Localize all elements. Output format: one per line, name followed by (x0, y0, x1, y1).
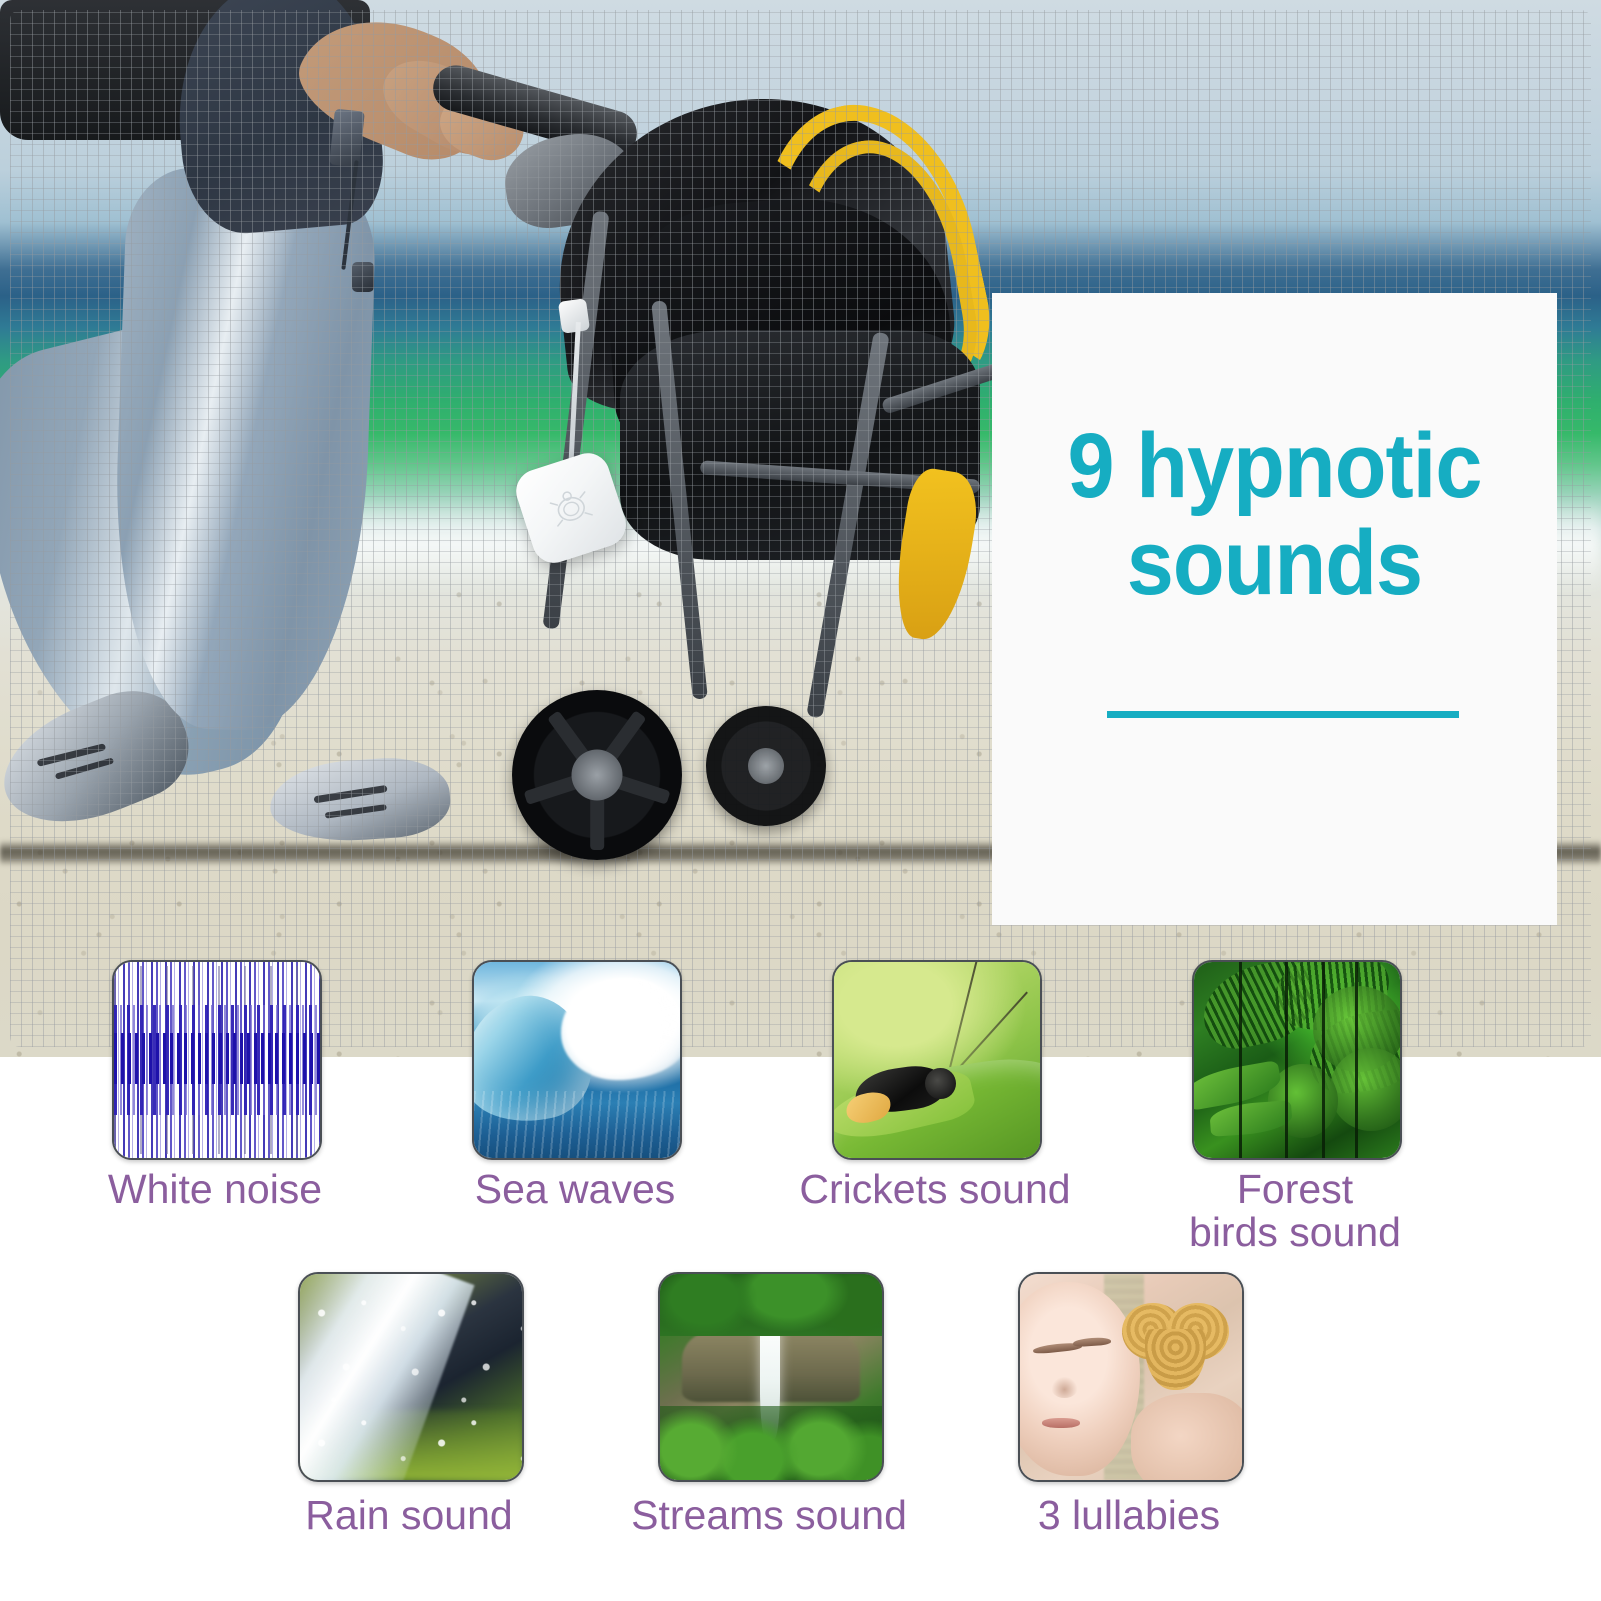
falling-water-icon (300, 1274, 522, 1480)
sound-label-white-noise: White noise (32, 1168, 398, 1211)
sound-label-forest-birds-sound: Forest birds sound (1112, 1168, 1478, 1253)
sound-label-sea-waves: Sea waves (392, 1168, 758, 1211)
sound-thumbnail-white-noise[interactable] (112, 960, 322, 1160)
sleeping-baby-icon (1020, 1274, 1242, 1480)
device-clip (558, 298, 590, 334)
waterfall-icon (660, 1274, 882, 1480)
sound-thumbnail-streams-sound[interactable] (658, 1272, 884, 1482)
sound-label-3-lullabies: 3 lullabies (946, 1494, 1312, 1537)
sound-label-streams-sound: Streams sound (586, 1494, 952, 1537)
waveform-graph-icon (114, 962, 320, 1158)
knitted-heart (1122, 1303, 1229, 1402)
sound-label-rain-sound: Rain sound (226, 1494, 592, 1537)
product-feature-image: 9 hypnotic sounds White noise Sea waves (0, 0, 1601, 1601)
stroller-basket (0, 0, 370, 140)
sound-thumbnail-rain-sound[interactable] (298, 1272, 524, 1482)
headline-line-1: 9 hypnotic (1067, 415, 1481, 517)
stroller-front-wheel (512, 690, 682, 860)
cricket-on-leaf-icon (834, 962, 1040, 1158)
page-title: 9 hypnotic sounds (1015, 418, 1535, 611)
stroller-rear-wheel (706, 706, 826, 826)
baby-stroller (0, 0, 1601, 140)
turtle-logo (543, 482, 599, 534)
sound-thumbnail-3-lullabies[interactable] (1018, 1272, 1244, 1482)
sound-thumbnail-crickets-sound[interactable] (832, 960, 1042, 1160)
sound-thumbnail-forest-birds-sound[interactable] (1192, 960, 1402, 1160)
jungle-foliage-icon (1194, 962, 1400, 1158)
headline-panel: 9 hypnotic sounds (992, 293, 1557, 925)
headline-line-2: sounds (1015, 515, 1535, 612)
ocean-wave-icon (474, 962, 680, 1158)
sound-thumbnail-sea-waves[interactable] (472, 960, 682, 1160)
headline-divider (1107, 711, 1459, 718)
sound-label-crickets-sound: Crickets sound (752, 1168, 1118, 1211)
